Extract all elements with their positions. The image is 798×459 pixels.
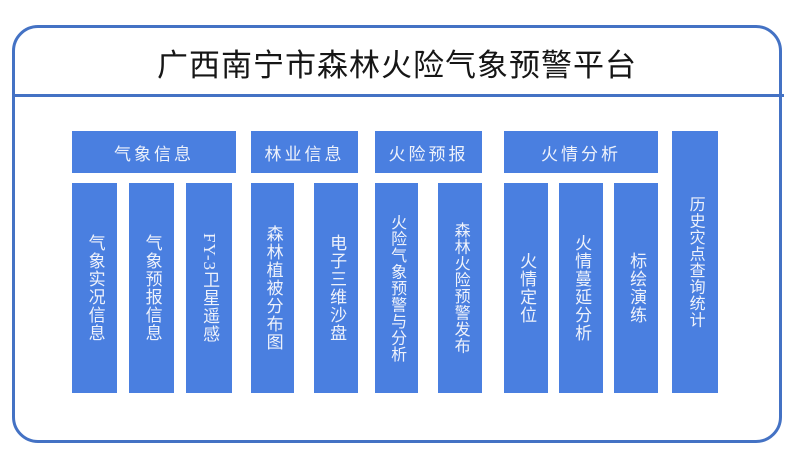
item-label: FY-3卫星遥感	[200, 233, 218, 343]
item-historical-disaster-point-query-statistics[interactable]: 历史灾点查询统计	[672, 131, 718, 393]
item-label: 电子三维沙盘	[327, 234, 345, 342]
item-fire-risk-weather-warning-analysis[interactable]: 火险气象预警与分析	[375, 183, 418, 393]
item-label: 历史灾点查询统计	[686, 196, 703, 328]
item-label: 气象预报信息	[142, 234, 160, 342]
item-plotting-drill[interactable]: 标绘演练	[614, 183, 658, 393]
item-fire-spread-analysis[interactable]: 火情蔓延分析	[559, 183, 603, 393]
item-label: 火情蔓延分析	[572, 234, 590, 342]
group-header-fire-risk-forecast[interactable]: 火险预报	[375, 131, 482, 173]
item-fy3-satellite-remote-sensing[interactable]: FY-3卫星遥感	[186, 183, 232, 393]
item-forest-fire-risk-warning-release[interactable]: 森林火险预警发布	[438, 183, 482, 393]
item-label: 森林植被分布图	[263, 225, 281, 351]
item-label: 森林火险预警发布	[451, 222, 468, 354]
item-label: 火情定位	[517, 252, 535, 324]
title-band: 广西南宁市森林火险气象预警平台	[15, 28, 779, 96]
item-label: 标绘演练	[627, 252, 645, 324]
item-weather-forecast-info[interactable]: 气象预报信息	[129, 183, 174, 393]
page-title: 广西南宁市森林火险气象预警平台	[157, 40, 637, 85]
item-electronic-3d-sandtable[interactable]: 电子三维沙盘	[314, 183, 358, 393]
group-header-forestry-info[interactable]: 林业信息	[251, 131, 358, 173]
item-label: 气象实况信息	[85, 234, 103, 342]
item-fire-location[interactable]: 火情定位	[504, 183, 548, 393]
diagram-canvas: 广西南宁市森林火险气象预警平台 气象信息 气象实况信息 气象预报信息 FY-3卫…	[0, 0, 798, 459]
item-forest-vegetation-distribution-map[interactable]: 森林植被分布图	[251, 183, 294, 393]
item-label: 火险气象预警与分析	[388, 214, 405, 363]
group-header-fire-situation-analysis[interactable]: 火情分析	[504, 131, 658, 173]
title-divider	[14, 94, 784, 97]
group-header-weather-info[interactable]: 气象信息	[72, 131, 236, 173]
item-weather-realtime-info[interactable]: 气象实况信息	[72, 183, 117, 393]
